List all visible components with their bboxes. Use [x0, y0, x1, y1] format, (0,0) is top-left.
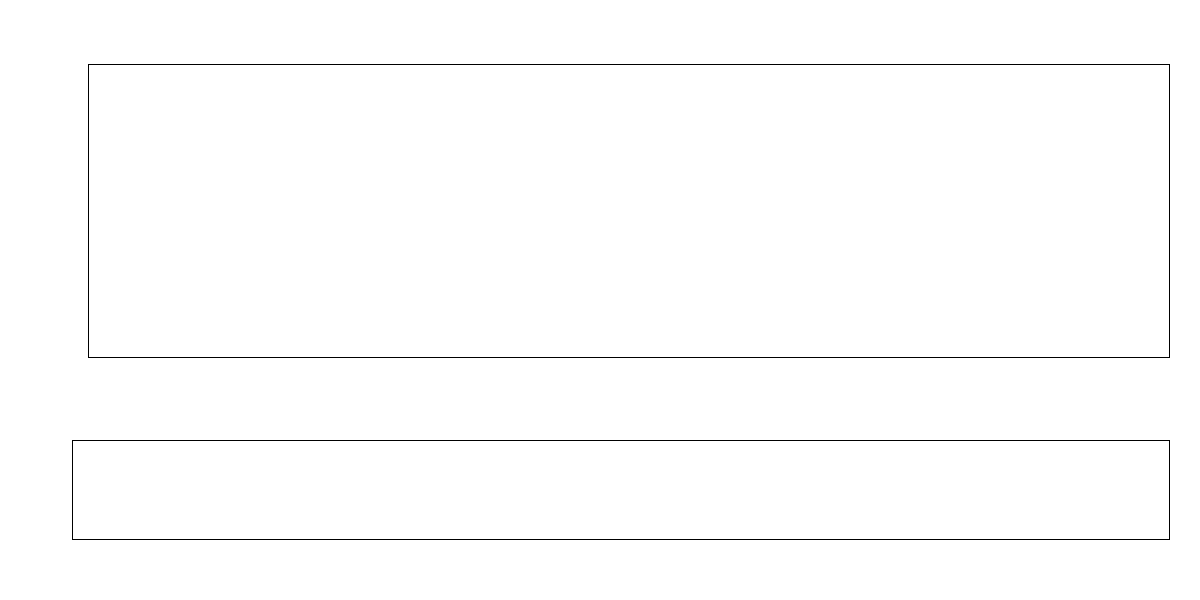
- price-wave-chart: [88, 64, 1170, 358]
- chart-page: [0, 0, 1200, 600]
- price-band-layers: [89, 65, 1169, 357]
- stacked-bars: [73, 441, 1169, 539]
- buy-sell-chart: [72, 440, 1170, 540]
